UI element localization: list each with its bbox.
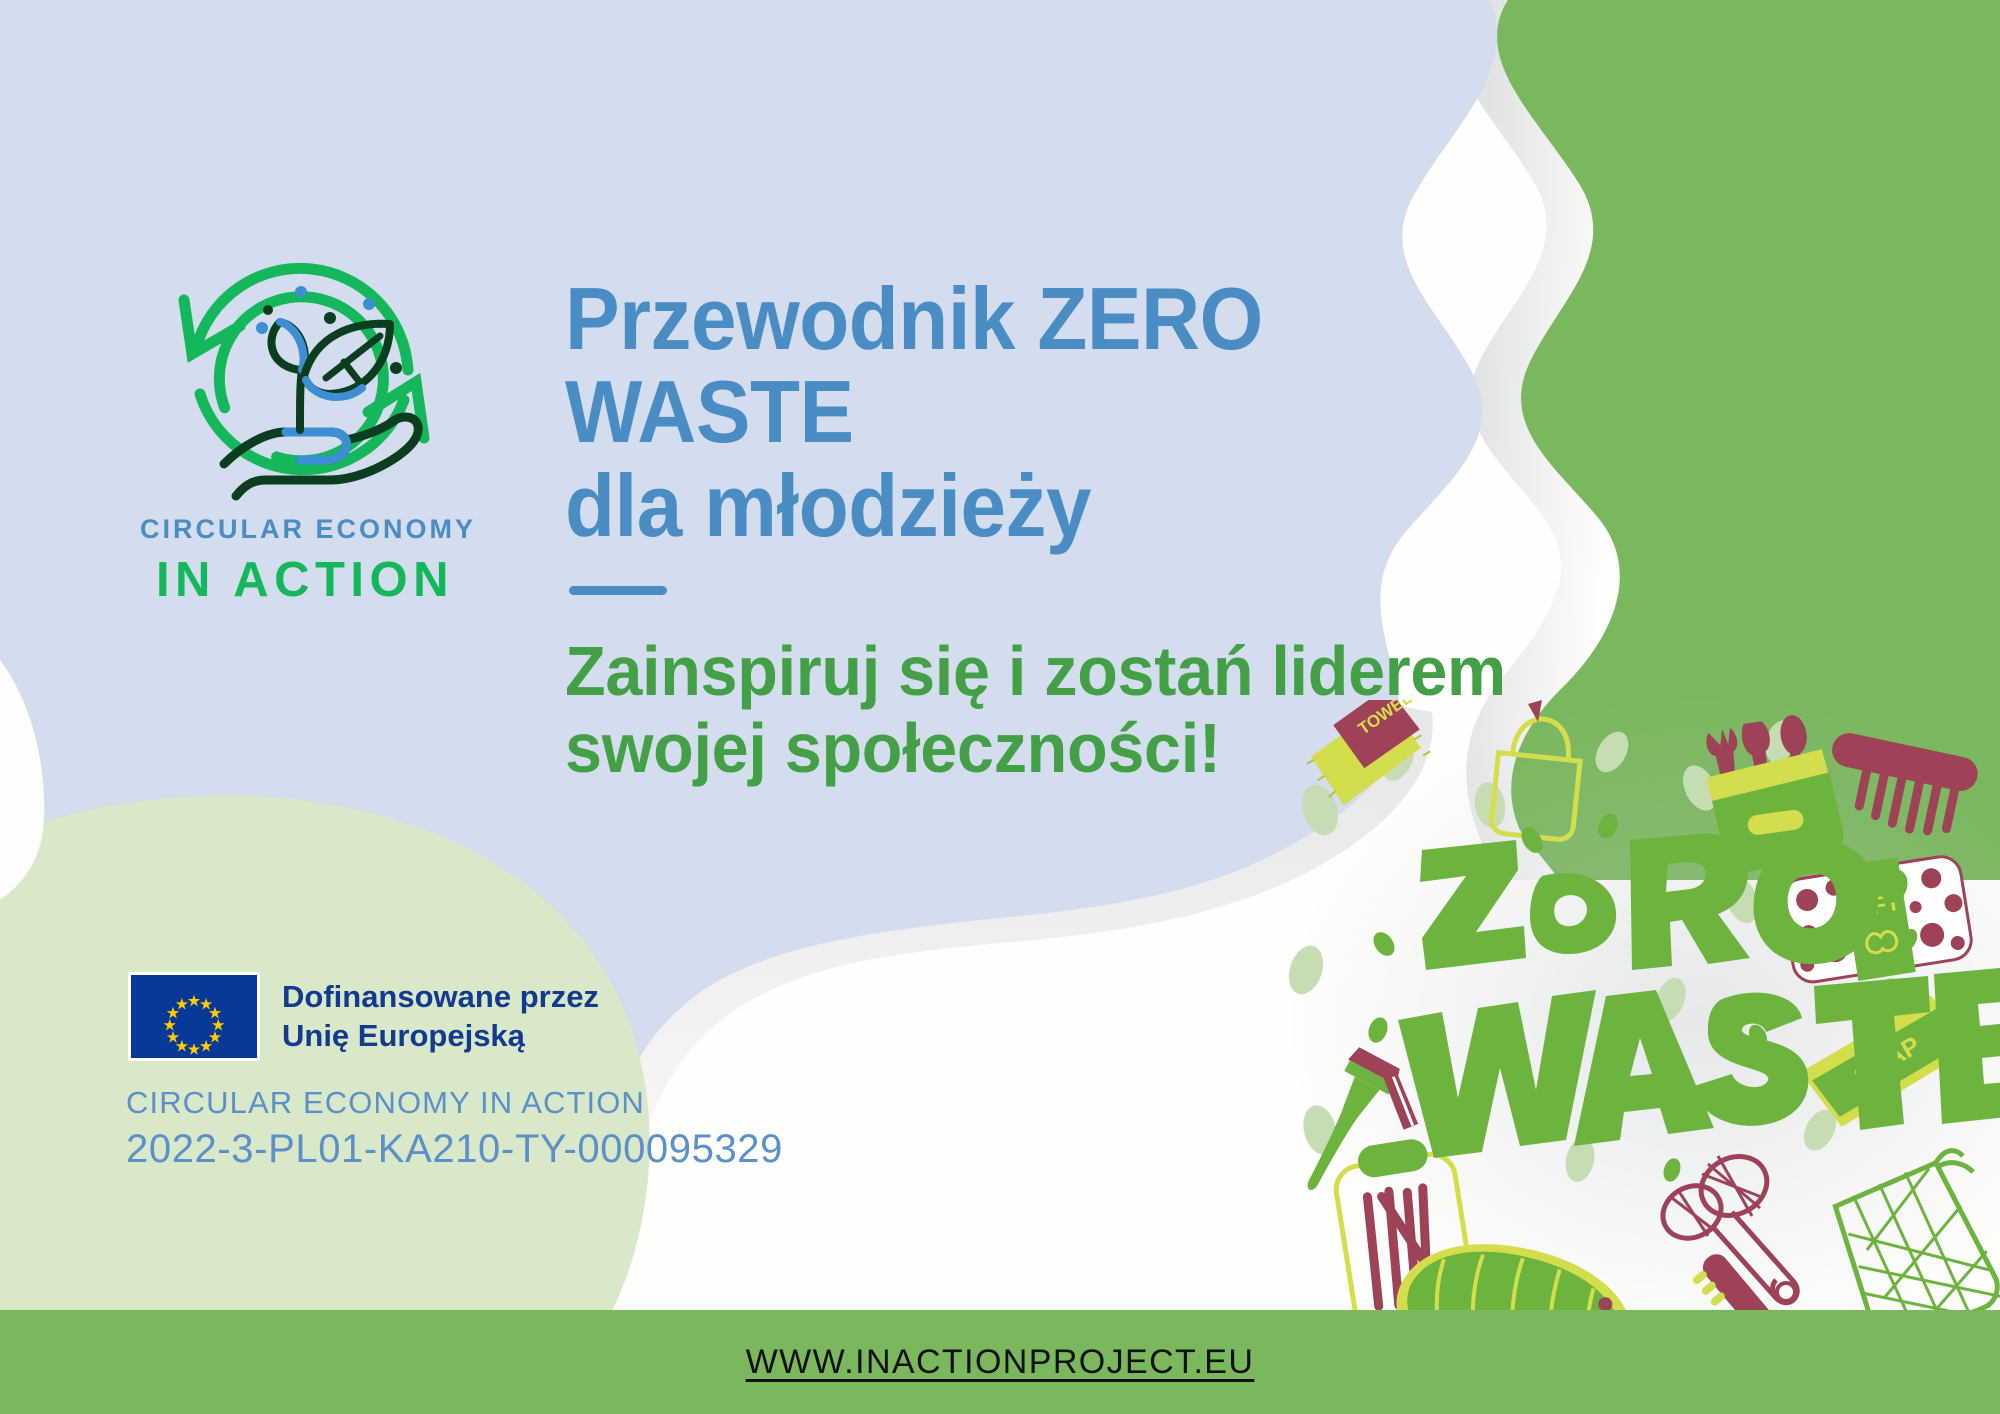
- website-link[interactable]: WWW.INACTIONPROJECT.EU: [746, 1343, 1255, 1382]
- logo-tagline-bottom: IN ACTION: [140, 552, 470, 608]
- poster-canvas: CIRCULAR ECONOMY IN ACTION Przewodnik ZE…: [0, 0, 2000, 1414]
- project-code: 2022-3-PL01-KA210-TY-000095329: [126, 1127, 783, 1172]
- tote-bag: [1490, 715, 1584, 841]
- project-name: CIRCULAR ECONOMY IN ACTION: [126, 1085, 783, 1121]
- logo-tagline-top: CIRCULAR ECONOMY: [140, 514, 470, 545]
- circular-economy-hand-plant-icon: [140, 230, 460, 520]
- project-identifier: CIRCULAR ECONOMY IN ACTION 2022-3-PL01-K…: [126, 1085, 783, 1172]
- footer-bar: WWW.INACTIONPROJECT.EU: [0, 1310, 2000, 1414]
- mesh-produce-bag: [1829, 1147, 2000, 1315]
- eu-funding-text: Dofinansowane przez Unię Europejską: [282, 978, 599, 1055]
- zero-waste-illustration: TOWEL: [1280, 700, 2000, 1315]
- page-title: Przewodnik ZERO WASTE dla młodzieży: [565, 272, 1495, 552]
- title-divider: [569, 586, 667, 595]
- logo-block: CIRCULAR ECONOMY IN ACTION: [140, 230, 470, 608]
- eu-funding-badge: Dofinansowane przez Unię Europejską: [128, 972, 599, 1061]
- european-union-flag: [128, 972, 260, 1061]
